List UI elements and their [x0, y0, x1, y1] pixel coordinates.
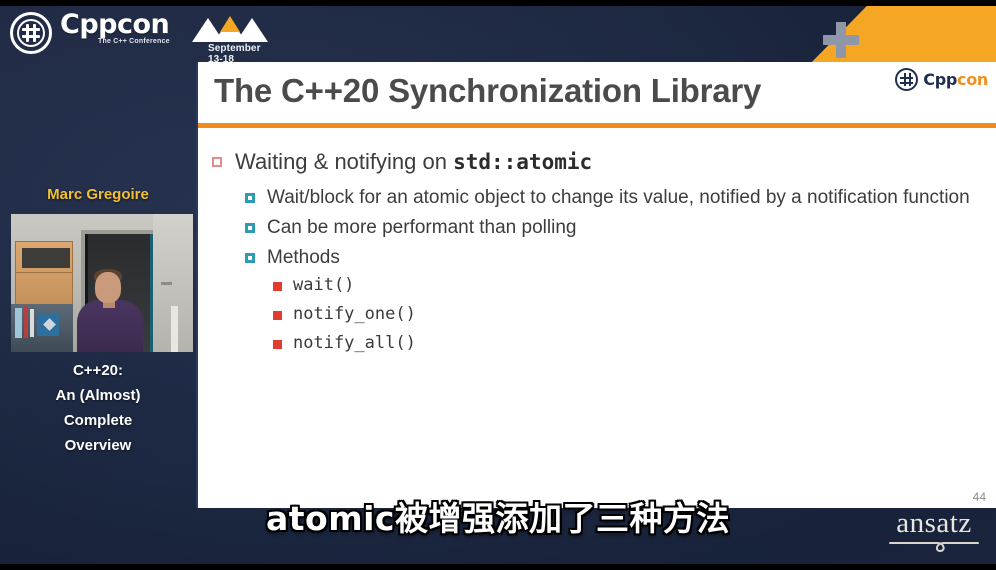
talk-title: C++20: An (Almost) Complete Overview: [0, 358, 196, 458]
letterbox-bottom: [0, 564, 996, 570]
bullet1-code: std::atomic: [453, 150, 592, 174]
bullet1-prefix: Waiting & notifying on: [235, 149, 453, 174]
cppcon-header-logo: Cppcon The C++ Conference September 13-1…: [10, 10, 170, 54]
method-name: wait(): [293, 274, 354, 296]
talk-title-line-1: C++20:: [0, 358, 196, 383]
slide-title: The C++20 Synchronization Library: [214, 72, 761, 110]
letterbox-top: [0, 0, 996, 6]
method-item: notify_all(): [273, 332, 987, 354]
bullet-marker-square-outline-red: [212, 157, 222, 167]
chevron-mountains-icon: [192, 12, 278, 42]
sub-bullet-group: Wait/block for an atomic object to chang…: [245, 184, 987, 354]
sub-bullet-item: Can be more performant than polling: [245, 214, 987, 241]
slide-logo-con: con: [957, 70, 988, 89]
bullet-marker-square-solid-red: [273, 311, 282, 320]
slide-title-underline: [198, 123, 996, 128]
ansatz-squiggle-icon: [884, 538, 984, 556]
sub-bullet-item: Methods: [245, 244, 987, 271]
method-item: notify_one(): [273, 303, 987, 325]
bullet-level1: Waiting & notifying on std::atomic: [212, 146, 987, 178]
slide-bullet-list: Waiting & notifying on std::atomic Wait/…: [212, 146, 987, 361]
presentation-slide: The C++20 Synchronization Library Cppcon…: [196, 62, 996, 508]
talk-title-line-2: An (Almost): [0, 383, 196, 408]
plus-icon: [823, 22, 859, 58]
speaker-name: Marc Gregoire: [0, 186, 196, 203]
sub-bullet-text: Wait/block for an atomic object to chang…: [267, 184, 970, 211]
video-player-frame: Cppcon The C++ Conference September 13-1…: [0, 0, 996, 570]
bullet-marker-square-teal: [245, 253, 255, 263]
bullet-marker-square-teal: [245, 193, 255, 203]
cppcon-badge-icon: [10, 12, 52, 54]
bullet-marker-square-solid-red: [273, 282, 282, 291]
method-list: wait() notify_one() notify_all(): [273, 274, 987, 354]
method-name: notify_one(): [293, 303, 416, 325]
sub-bullet-item: Wait/block for an atomic object to chang…: [245, 184, 987, 211]
slide-logo-cpp: Cpp: [923, 70, 957, 89]
bullet-marker-square-solid-red: [273, 340, 282, 349]
subtitle-caption: atomic被增强添加了三种方法: [0, 492, 996, 540]
method-name: notify_all(): [293, 332, 416, 354]
sub-bullet-text: Methods: [267, 244, 340, 271]
talk-title-line-4: Overview: [0, 433, 196, 458]
method-item: wait(): [273, 274, 987, 296]
cppcon-tagline: The C++ Conference: [98, 38, 170, 45]
sub-bullet-text: Can be more performant than polling: [267, 214, 576, 241]
cppcon-badge-icon-small: [895, 68, 918, 91]
cppcon-wordmark: Cppcon: [60, 10, 170, 40]
slide-cppcon-logo: Cppcon: [895, 68, 988, 91]
talk-title-line-3: Complete: [0, 408, 196, 433]
bullet-level1-text: Waiting & notifying on std::atomic: [235, 146, 592, 178]
bullet-marker-square-teal: [245, 223, 255, 233]
speaker-webcam-video[interactable]: [11, 214, 193, 352]
